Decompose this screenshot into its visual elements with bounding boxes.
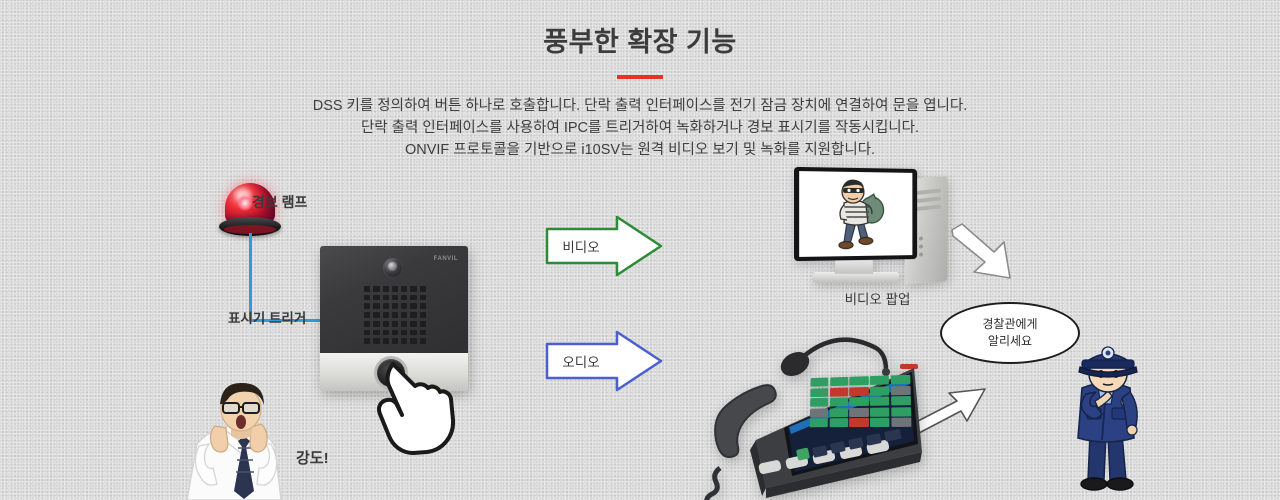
voip-console-phone — [700, 320, 925, 500]
subtitle-line-2: 단락 출력 인터페이스를 사용하여 IPC를 트리거하여 녹화하거나 경보 표시… — [0, 117, 1280, 139]
monitor-bezel — [794, 167, 917, 261]
intercom-top-panel: FANVIL — [320, 246, 468, 353]
dss-key-10[interactable] — [891, 385, 911, 395]
video-arrow-label: 비디오 — [545, 215, 617, 277]
monitor-screen — [799, 171, 912, 257]
dss-key-14[interactable] — [870, 396, 889, 405]
dss-key-grid[interactable] — [810, 375, 912, 437]
trigger-cable-label: 표시기 트리거 — [228, 307, 306, 327]
dss-key-22[interactable] — [829, 418, 848, 427]
dss-key-6[interactable] — [810, 388, 828, 397]
dss-key-8[interactable] — [850, 386, 869, 395]
speech-bubble-line-1: 경찰관에게 — [982, 316, 1037, 333]
header: 풍부한 확장 기능 DSS 키를 정의하여 버튼 하나로 호출합니다. 단락 출… — [0, 20, 1280, 161]
dss-key-24[interactable] — [870, 418, 890, 427]
video-arrow: 비디오 — [545, 215, 663, 277]
dss-key-13[interactable] — [850, 397, 869, 406]
dss-key-2[interactable] — [830, 377, 848, 386]
subtitle-block: DSS 키를 정의하여 버튼 하나로 호출합니다. 단락 출력 인터페이스를 전… — [0, 95, 1280, 161]
dss-key-21[interactable] — [810, 418, 828, 427]
white-arrow-up-right — [915, 385, 993, 437]
dss-key-7[interactable] — [830, 387, 848, 396]
page-title: 풍부한 확장 기능 — [0, 20, 1280, 59]
subtitle-line-3: ONVIF 프로토콜을 기반으로 i10SV는 원격 비디오 보기 및 녹화를 … — [0, 139, 1280, 161]
dss-key-12[interactable] — [830, 397, 849, 406]
alarm-lamp-glow — [237, 195, 253, 211]
dss-key-17[interactable] — [829, 408, 848, 417]
diagram-stage: 풍부한 확장 기능 DSS 키를 정의하여 버튼 하나로 호출합니다. 단락 출… — [0, 0, 1280, 500]
pc-monitor-group — [795, 168, 960, 293]
dss-key-3[interactable] — [850, 376, 869, 385]
dss-key-23[interactable] — [849, 418, 868, 427]
alarm-lamp-label: 경보 램프 — [252, 192, 307, 212]
dss-key-25[interactable] — [891, 418, 911, 427]
dss-key-16[interactable] — [810, 408, 828, 417]
dss-key-9[interactable] — [870, 386, 889, 395]
dss-key-5[interactable] — [891, 375, 911, 385]
pc-popup-label: 비디오 팝업 — [795, 288, 960, 308]
tower-indicator-dots — [919, 236, 929, 257]
dss-key-15[interactable] — [891, 396, 911, 406]
brand-logo: FANVIL — [434, 256, 458, 262]
speaker-grille — [364, 286, 426, 344]
subtitle-line-1: DSS 키를 정의하여 버튼 하나로 호출합니다. 단락 출력 인터페이스를 전… — [0, 95, 1280, 117]
audio-arrow: 오디오 — [545, 330, 663, 392]
monitor-stand — [835, 260, 873, 273]
dss-key-4[interactable] — [870, 375, 889, 384]
audio-arrow-label: 오디오 — [545, 330, 617, 392]
speech-bubble-line-2: 알리세요 — [988, 333, 1032, 350]
dss-key-19[interactable] — [870, 407, 890, 416]
pointing-hand-cursor — [375, 358, 465, 458]
white-arrow-down-right — [948, 222, 1028, 284]
speech-bubble: 경찰관에게 알리세요 — [940, 302, 1080, 364]
dss-key-18[interactable] — [850, 407, 869, 416]
title-underline-rule — [617, 75, 663, 79]
policeman-illustration — [1060, 330, 1150, 500]
dss-key-1[interactable] — [811, 378, 829, 387]
dss-key-11[interactable] — [810, 398, 828, 407]
dss-key-20[interactable] — [891, 407, 911, 416]
shocked-man-label: 강도! — [296, 447, 329, 468]
shocked-man-illustration — [175, 382, 310, 500]
camera-icon — [383, 258, 403, 278]
burglar-illustration — [825, 177, 889, 252]
